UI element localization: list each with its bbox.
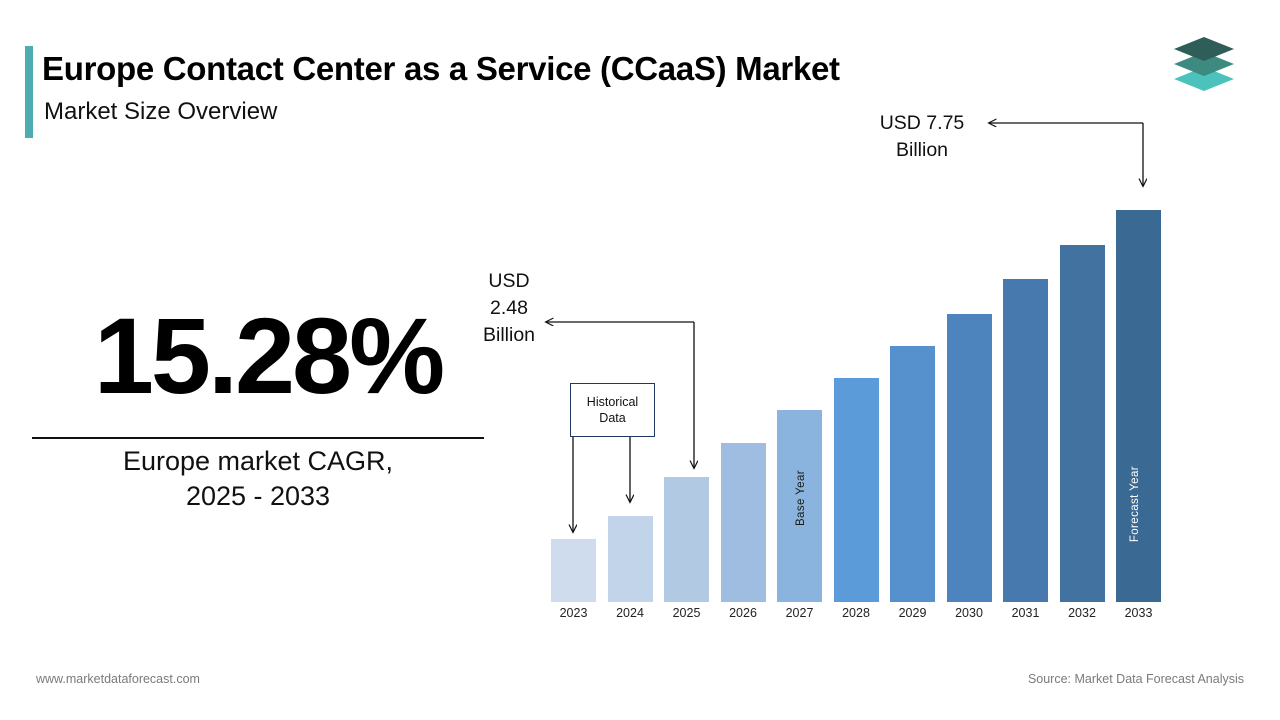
forecast-year-label: Forecast Year [1129, 466, 1141, 542]
bar-2032 [1060, 245, 1105, 602]
x-tick-2032: 2032 [1060, 606, 1105, 620]
x-tick-2027: 2027 [777, 606, 822, 620]
start-value-callout: USD 2.48 Billion [466, 268, 552, 349]
x-tick-2026: 2026 [721, 606, 766, 620]
x-tick-2029: 2029 [890, 606, 935, 620]
bar-2033 [1116, 210, 1161, 602]
bar-2028 [834, 378, 879, 602]
end-value-callout: USD 7.75 Billion [852, 110, 992, 164]
x-tick-2025: 2025 [664, 606, 709, 620]
bar-2025 [664, 477, 709, 602]
bar-2026 [721, 443, 766, 602]
historical-data-box: Historical Data [570, 383, 655, 437]
x-tick-2028: 2028 [834, 606, 879, 620]
x-tick-2030: 2030 [947, 606, 992, 620]
bar-2023 [551, 539, 596, 602]
x-tick-2023: 2023 [551, 606, 596, 620]
x-tick-2024: 2024 [608, 606, 653, 620]
bar-2030 [947, 314, 992, 602]
bar-2031 [1003, 279, 1048, 602]
bar-2024 [608, 516, 653, 602]
footer-website[interactable]: www.marketdataforecast.com [36, 672, 200, 686]
footer-source: Source: Market Data Forecast Analysis [1028, 672, 1244, 686]
bar-2029 [890, 346, 935, 602]
market-size-bar-chart: 2023202420252026202720282029203020312032… [0, 0, 1280, 720]
x-tick-2033: 2033 [1116, 606, 1161, 620]
x-tick-2031: 2031 [1003, 606, 1048, 620]
infographic-canvas: Europe Contact Center as a Service (CCaa… [0, 0, 1280, 720]
base-year-label: Base Year [795, 470, 807, 526]
